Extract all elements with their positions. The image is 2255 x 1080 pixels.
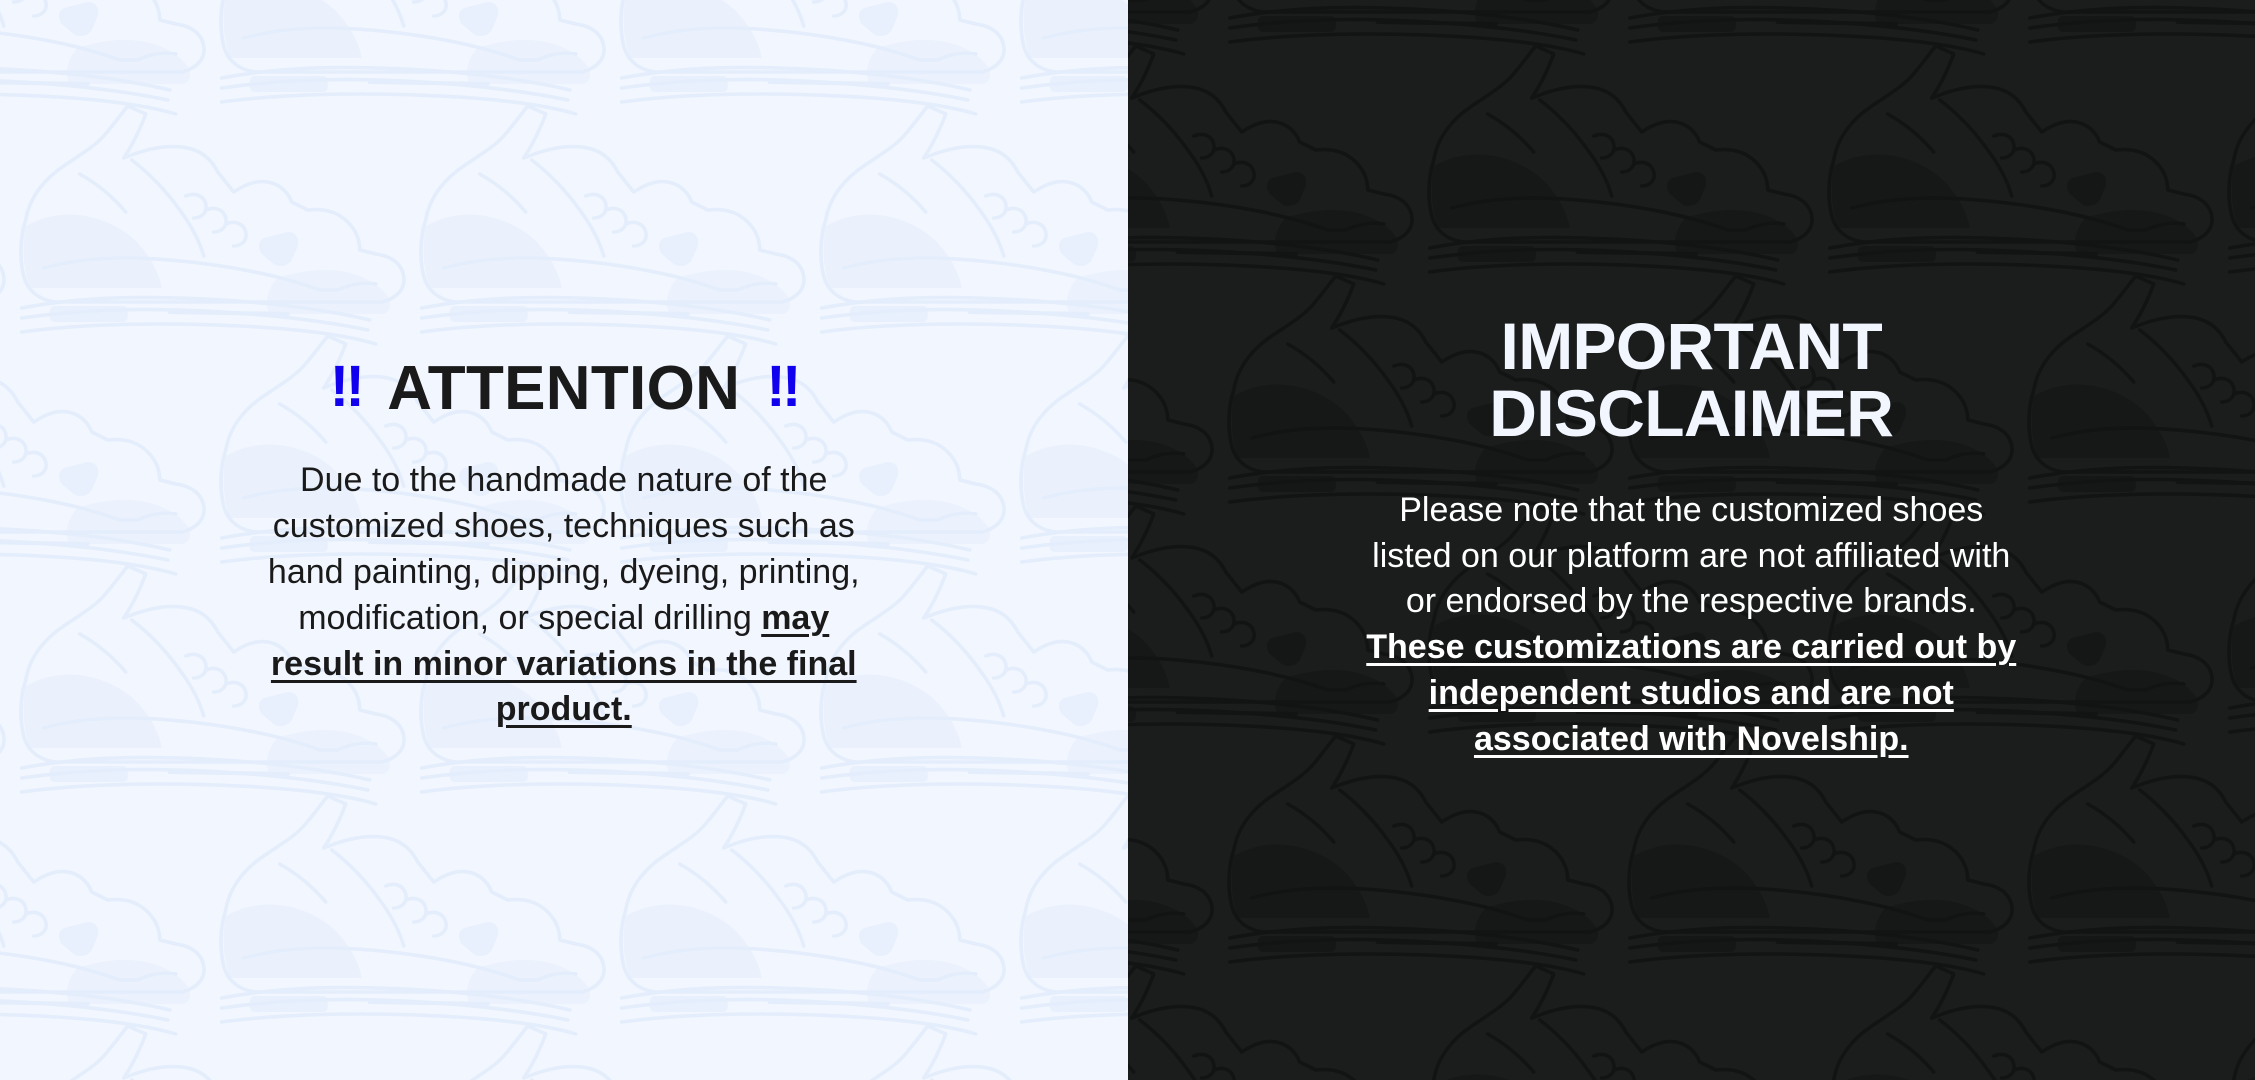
attention-heading: ‼ ATTENTION ‼ (118, 358, 1010, 420)
disclaimer-content: IMPORTANT DISCLAIMER Please note that th… (1128, 0, 2255, 763)
attention-heading-word: ATTENTION (387, 358, 740, 420)
disclaimer-heading-line-1: IMPORTANT (1224, 313, 2160, 380)
disclaimer-body: Please note that the customized shoes li… (1366, 488, 2016, 763)
disclaimer-body-plain: Please note that the customized shoes li… (1372, 491, 2010, 621)
disclaimer-body-emphasis: These customizations are carried out by … (1366, 628, 2016, 758)
attention-panel: ‼ ATTENTION ‼ Due to the handmade nature… (0, 0, 1128, 1080)
customization-notice-banner: ‼ ATTENTION ‼ Due to the handmade nature… (0, 0, 2255, 1080)
disclaimer-panel: IMPORTANT DISCLAIMER Please note that th… (1128, 0, 2255, 1080)
attention-body: Due to the handmade nature of the custom… (254, 458, 874, 733)
double-exclamation-right-icon: ‼ (766, 358, 798, 416)
attention-content: ‼ ATTENTION ‼ Due to the handmade nature… (0, 0, 1128, 733)
disclaimer-heading-line-2: DISCLAIMER (1224, 380, 2160, 447)
double-exclamation-left-icon: ‼ (330, 358, 362, 416)
disclaimer-heading: IMPORTANT DISCLAIMER (1224, 313, 2160, 448)
